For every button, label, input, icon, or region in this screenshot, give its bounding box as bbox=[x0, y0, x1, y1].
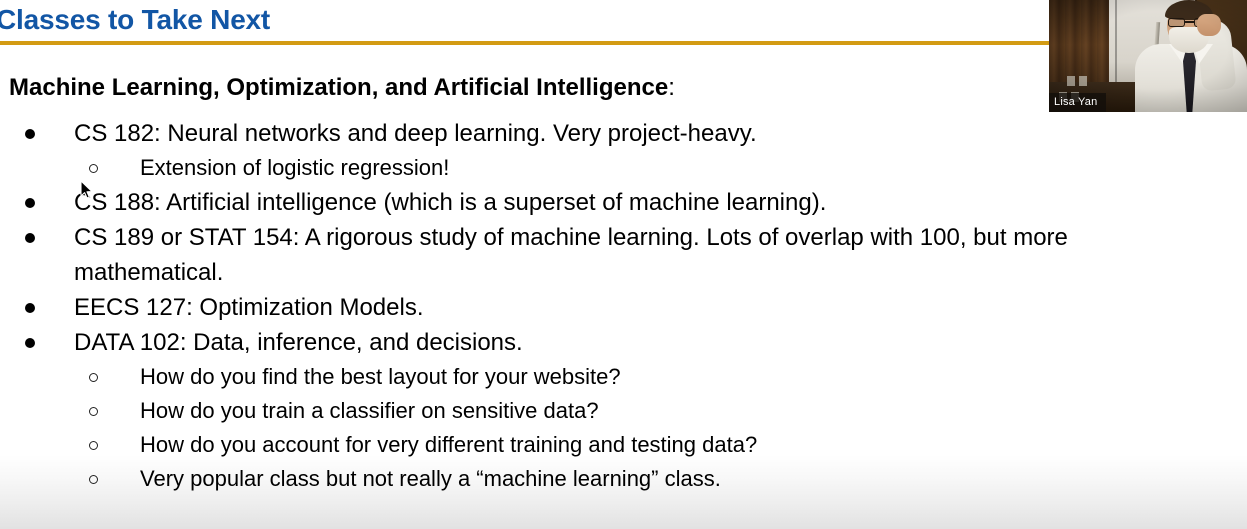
bullet-list: CS 182: Neural networks and deep learnin… bbox=[0, 116, 1190, 496]
bullet-disc-icon bbox=[25, 116, 74, 151]
list-item-text: How do you find the best layout for your… bbox=[140, 360, 1190, 394]
bullet-circle-icon bbox=[89, 428, 140, 462]
list-item: Extension of logistic regression! bbox=[0, 151, 1190, 185]
section-heading-colon: : bbox=[668, 74, 675, 101]
list-item-text: How do you account for very different tr… bbox=[140, 428, 1190, 462]
section-heading: Machine Learning, Optimization, and Arti… bbox=[9, 72, 675, 104]
list-item-text: EECS 127: Optimization Models. bbox=[74, 290, 1164, 325]
list-item: How do you account for very different tr… bbox=[0, 428, 1190, 462]
list-item: CS 188: Artificial intelligence (which i… bbox=[0, 185, 1190, 220]
bullet-disc-icon bbox=[25, 185, 74, 220]
webcam-video-tile[interactable]: Lisa Yan bbox=[1049, 0, 1247, 112]
list-item-text: CS 182: Neural networks and deep learnin… bbox=[74, 116, 1164, 151]
bullet-disc-icon bbox=[25, 325, 74, 360]
list-item: CS 189 or STAT 154: A rigorous study of … bbox=[0, 220, 1190, 290]
list-item: How do you train a classifier on sensiti… bbox=[0, 394, 1190, 428]
list-item-text: CS 189 or STAT 154: A rigorous study of … bbox=[74, 220, 1164, 290]
bullet-circle-icon bbox=[89, 360, 140, 394]
bullet-circle-icon bbox=[89, 151, 140, 185]
bullet-disc-icon bbox=[25, 290, 74, 325]
slide-canvas: Classes to Take Next Machine Learning, O… bbox=[0, 0, 1247, 529]
list-item: CS 182: Neural networks and deep learnin… bbox=[0, 116, 1190, 151]
bullet-circle-icon bbox=[89, 462, 140, 496]
list-item-text: Very popular class but not really a “mac… bbox=[140, 462, 1190, 496]
list-item: DATA 102: Data, inference, and decisions… bbox=[0, 325, 1190, 360]
list-item: EECS 127: Optimization Models. bbox=[0, 290, 1190, 325]
list-item-text: Extension of logistic regression! bbox=[140, 151, 1190, 185]
list-item-text: DATA 102: Data, inference, and decisions… bbox=[74, 325, 1164, 360]
list-item: How do you find the best layout for your… bbox=[0, 360, 1190, 394]
bullet-circle-icon bbox=[89, 394, 140, 428]
list-item-text: How do you train a classifier on sensiti… bbox=[140, 394, 1190, 428]
webcam-participant-name: Lisa Yan bbox=[1049, 93, 1106, 112]
bullet-disc-icon bbox=[25, 220, 74, 255]
section-heading-bold: Machine Learning, Optimization, and Arti… bbox=[9, 74, 668, 101]
page-title: Classes to Take Next bbox=[0, 2, 270, 38]
list-item: Very popular class but not really a “mac… bbox=[0, 462, 1190, 496]
title-divider-rule bbox=[0, 41, 1049, 45]
list-item-text: CS 188: Artificial intelligence (which i… bbox=[74, 185, 1164, 220]
